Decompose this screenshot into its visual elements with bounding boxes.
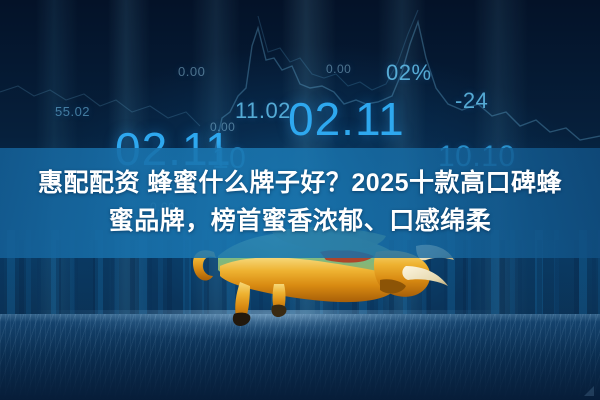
promo-banner: 0.00 55.02 11.02 0.00 0.00 02% -24 02.11…: [0, 0, 600, 400]
ticker-number: 02%: [386, 60, 432, 86]
corner-mark-icon: [582, 384, 596, 398]
ticker-number: 55.02: [55, 104, 90, 119]
ticker-number: 02.11: [288, 92, 405, 146]
ticker-number: 0.00: [178, 64, 205, 79]
ticker-number: 0.00: [326, 62, 351, 76]
bull-rear-hoof: [271, 305, 286, 317]
headline-line-2: 蜜品牌，榜首蜜香浓郁、口感绵柔: [109, 205, 492, 239]
headline-line-1: 惠配配资 蜂蜜什么牌子好？2025十款高口碑蜂: [38, 167, 562, 201]
bull-front-hoof: [233, 313, 251, 326]
ticker-number: 11.02: [235, 98, 291, 124]
headline: 惠配配资 蜂蜜什么牌子好？2025十款高口碑蜂 蜜品牌，榜首蜜香浓郁、口感绵柔: [0, 150, 600, 256]
ticker-number: -24: [455, 88, 488, 114]
